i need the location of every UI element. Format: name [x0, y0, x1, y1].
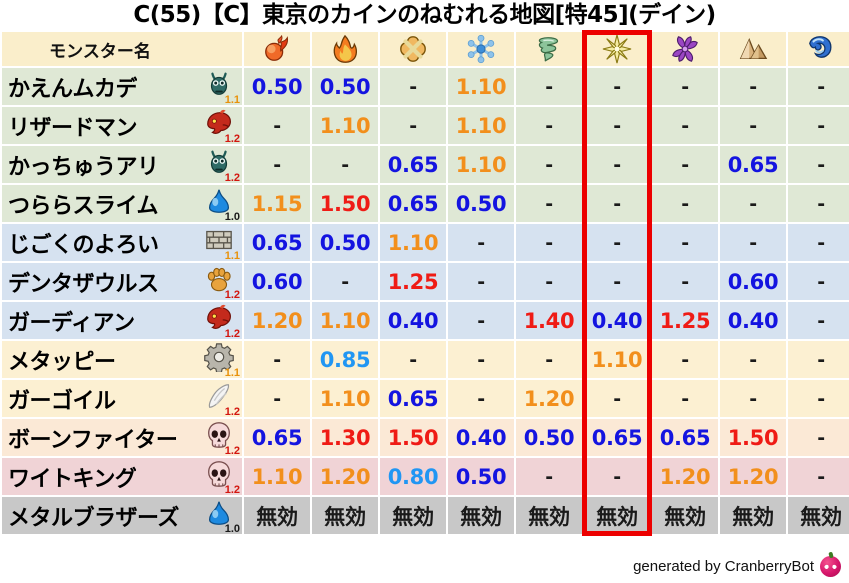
- darkflower-icon: [670, 34, 700, 64]
- resistance-cell: 0.50: [448, 185, 514, 222]
- monster-multiplier: 1.2: [225, 406, 240, 418]
- resistance-cell: 0.65: [244, 224, 310, 261]
- monster-multiplier: 1.2: [225, 484, 240, 496]
- monster-multiplier: 1.2: [225, 133, 240, 145]
- resistance-cell: 1.50: [380, 419, 446, 456]
- header-element-meragiga: [244, 32, 310, 66]
- resistance-cell: -: [652, 107, 718, 144]
- resistance-cell: -: [788, 341, 849, 378]
- resistance-cell: 無効: [380, 497, 446, 534]
- header-element-dorma: [652, 32, 718, 66]
- slime-icon: 1.0: [204, 499, 238, 533]
- resistance-cell: 1.30: [312, 419, 378, 456]
- resistance-cell: 無効: [244, 497, 310, 534]
- resistance-cell: -: [516, 68, 582, 105]
- resistance-cell: -: [720, 224, 786, 261]
- resistance-cell: -: [584, 146, 650, 183]
- monster-name: ワイトキング: [8, 461, 136, 493]
- resistance-cell: 1.20: [516, 380, 582, 417]
- resistance-cell: 1.10: [448, 68, 514, 105]
- flame-icon: [330, 34, 360, 64]
- resistance-cell: 0.65: [652, 419, 718, 456]
- resistance-cell: 0.50: [516, 419, 582, 456]
- table-row: デンタザウルス1.20.60-1.25----0.60-: [2, 263, 849, 300]
- resistance-cell: -: [652, 185, 718, 222]
- monster-multiplier: 1.2: [225, 445, 240, 457]
- resistance-cell: -: [312, 263, 378, 300]
- resistance-cell: -: [448, 224, 514, 261]
- skull-icon: 1.2: [204, 421, 238, 455]
- monster-multiplier: 1.1: [225, 94, 240, 106]
- resistance-cell: -: [788, 419, 849, 456]
- resistance-cell: 0.50: [244, 68, 310, 105]
- resistance-cell: -: [720, 380, 786, 417]
- monster-name: デンタザウルス: [8, 266, 159, 298]
- monster-name: かっちゅうアリ: [8, 149, 159, 181]
- resistance-cell: 1.25: [380, 263, 446, 300]
- resistance-cell: 0.40: [448, 419, 514, 456]
- resistance-cell: -: [380, 341, 446, 378]
- resistance-cell: -: [312, 146, 378, 183]
- resistance-cell: -: [448, 341, 514, 378]
- monster-name-cell[interactable]: ガーディアン1.2: [2, 302, 242, 339]
- resistance-cell: 1.20: [312, 458, 378, 495]
- resistance-cell: -: [788, 458, 849, 495]
- fireball-icon: [262, 34, 292, 64]
- skull-icon: 1.2: [204, 460, 238, 494]
- resistance-cell: 0.65: [380, 146, 446, 183]
- monster-name-cell[interactable]: メタルブラザーズ1.0: [2, 497, 242, 534]
- monster-name-cell[interactable]: リザードマン1.2: [2, 107, 242, 144]
- header-row: モンスター名: [2, 32, 849, 66]
- monster-name: ボーンファイター: [8, 422, 177, 454]
- resistance-cell: 1.10: [312, 302, 378, 339]
- table-row: つららスライム1.01.151.500.650.50-----: [2, 185, 849, 222]
- pawprint-icon: 1.2: [204, 265, 238, 299]
- monster-multiplier: 1.0: [225, 211, 240, 223]
- resistance-table: モンスター名 かえんムカデ1.10.500.50-1.10-----リザードマン…: [0, 30, 849, 536]
- table-row: ボーンファイター1.20.651.301.500.400.500.650.651…: [2, 419, 849, 456]
- resistance-cell: -: [788, 224, 849, 261]
- table-row: メタルブラザーズ1.0無効無効無効無効無効無効無効無効無効: [2, 497, 849, 534]
- resistance-cell: -: [652, 263, 718, 300]
- resistance-cell: 無効: [788, 497, 849, 534]
- table-head: モンスター名: [2, 32, 849, 66]
- mountain-icon: [738, 34, 768, 64]
- resistance-cell: -: [652, 146, 718, 183]
- resistance-cell: -: [788, 263, 849, 300]
- resistance-cell: 1.10: [584, 341, 650, 378]
- header-element-gira: [312, 32, 378, 66]
- resistance-cell: -: [720, 107, 786, 144]
- monster-name-cell[interactable]: ワイトキング1.2: [2, 458, 242, 495]
- resistance-cell: -: [720, 341, 786, 378]
- resistance-cell: -: [244, 146, 310, 183]
- wave-icon: [806, 34, 836, 64]
- header-element-hyado: [448, 32, 514, 66]
- dragon-icon: 1.2: [204, 109, 238, 143]
- resistance-cell: 1.10: [244, 458, 310, 495]
- monster-name: じごくのよろい: [8, 227, 159, 259]
- resistance-cell: -: [516, 341, 582, 378]
- footer: generated by CranberryBot: [633, 553, 841, 579]
- monster-name: メタッピー: [8, 344, 116, 376]
- resistance-cell: 1.20: [720, 458, 786, 495]
- resistance-cell: 0.65: [380, 185, 446, 222]
- resistance-cell: 1.50: [720, 419, 786, 456]
- resistance-cell: 1.10: [312, 107, 378, 144]
- monster-multiplier: 1.2: [225, 172, 240, 184]
- resistance-cell: -: [652, 341, 718, 378]
- header-monster-name: モンスター名: [2, 32, 242, 66]
- resistance-cell: 無効: [652, 497, 718, 534]
- table-row: かえんムカデ1.10.500.50-1.10-----: [2, 68, 849, 105]
- monster-name: つららスライム: [8, 188, 158, 220]
- resistance-cell: -: [788, 68, 849, 105]
- table-row: ガーディアン1.21.201.100.40-1.400.401.250.40-: [2, 302, 849, 339]
- resistance-cell: -: [652, 380, 718, 417]
- resistance-cell: -: [652, 68, 718, 105]
- resistance-cell: -: [448, 263, 514, 300]
- resistance-cell: -: [516, 263, 582, 300]
- table-body: かえんムカデ1.10.500.50-1.10-----リザードマン1.2-1.1…: [2, 68, 849, 534]
- resistance-cell: -: [516, 107, 582, 144]
- monster-name-cell[interactable]: かえんムカデ1.1: [2, 68, 242, 105]
- snowflake-icon: [466, 34, 496, 64]
- resistance-cell: 0.50: [448, 458, 514, 495]
- header-element-io: [380, 32, 446, 66]
- gear-icon: 1.1: [204, 343, 238, 377]
- lightburst-icon: [602, 34, 632, 64]
- wing-icon: 1.2: [204, 382, 238, 416]
- resistance-cell: 0.80: [380, 458, 446, 495]
- header-element-mera_wave: [788, 32, 849, 66]
- resistance-cell: -: [584, 224, 650, 261]
- resistance-cell: -: [516, 185, 582, 222]
- table-row: メタッピー1.1-0.85---1.10---: [2, 341, 849, 378]
- monster-multiplier: 1.0: [225, 523, 240, 535]
- resistance-cell: 1.50: [312, 185, 378, 222]
- resistance-cell: 0.40: [380, 302, 446, 339]
- table-row: リザードマン1.2-1.10-1.10-----: [2, 107, 849, 144]
- cranberry-icon: [820, 556, 841, 577]
- resistance-cell: -: [584, 380, 650, 417]
- monster-multiplier: 1.1: [225, 367, 240, 379]
- monster-multiplier: 1.1: [225, 250, 240, 262]
- monster-name: ガーゴイル: [8, 383, 116, 415]
- resistance-cell: 1.25: [652, 302, 718, 339]
- brickwall-icon: 1.1: [204, 226, 238, 260]
- resistance-cell: 無効: [720, 497, 786, 534]
- monster-name-cell[interactable]: かっちゅうアリ1.2: [2, 146, 242, 183]
- resistance-cell: -: [244, 341, 310, 378]
- damage-chart-page: C(55)【C】東京のカインのねむれる地図[特45](デイン) モンスター名 か…: [0, 0, 849, 583]
- resistance-cell: 0.50: [312, 224, 378, 261]
- explosion-icon: [398, 34, 428, 64]
- resistance-cell: -: [720, 185, 786, 222]
- page-title: C(55)【C】東京のカインのねむれる地図[特45](デイン): [0, 0, 849, 30]
- resistance-cell: 0.40: [584, 302, 650, 339]
- bug-icon: 1.1: [204, 70, 238, 104]
- resistance-cell: 0.50: [312, 68, 378, 105]
- monster-name-cell[interactable]: メタッピー1.1: [2, 341, 242, 378]
- tornado-icon: [534, 34, 564, 64]
- resistance-cell: 0.60: [720, 263, 786, 300]
- resistance-cell: -: [516, 458, 582, 495]
- resistance-cell: 1.10: [448, 146, 514, 183]
- resistance-cell: -: [584, 68, 650, 105]
- resistance-cell: -: [788, 146, 849, 183]
- resistance-cell: -: [584, 458, 650, 495]
- table-row: かっちゅうアリ1.2--0.651.10---0.65-: [2, 146, 849, 183]
- monster-name: ガーディアン: [8, 305, 135, 337]
- resistance-cell: 1.15: [244, 185, 310, 222]
- monster-name-cell[interactable]: つららスライム1.0: [2, 185, 242, 222]
- resistance-cell: -: [380, 68, 446, 105]
- resistance-cell: 無効: [584, 497, 650, 534]
- resistance-cell: -: [244, 107, 310, 144]
- monster-multiplier: 1.2: [225, 328, 240, 340]
- header-element-dein: [584, 32, 650, 66]
- monster-name-cell[interactable]: デンタザウルス1.2: [2, 263, 242, 300]
- slime-icon: 1.0: [204, 187, 238, 221]
- resistance-cell: -: [788, 380, 849, 417]
- resistance-cell: 1.10: [312, 380, 378, 417]
- resistance-cell: -: [380, 107, 446, 144]
- monster-multiplier: 1.2: [225, 289, 240, 301]
- resistance-cell: 1.20: [244, 302, 310, 339]
- resistance-cell: -: [788, 302, 849, 339]
- resistance-cell: -: [584, 107, 650, 144]
- dragon-icon: 1.2: [204, 304, 238, 338]
- resistance-cell: -: [448, 302, 514, 339]
- resistance-cell: 1.40: [516, 302, 582, 339]
- resistance-cell: 0.40: [720, 302, 786, 339]
- footer-text: generated by CranberryBot: [633, 558, 814, 575]
- resistance-cell: 0.60: [244, 263, 310, 300]
- resistance-cell: 無効: [516, 497, 582, 534]
- resistance-cell: -: [788, 107, 849, 144]
- resistance-cell: -: [448, 380, 514, 417]
- resistance-cell: 無効: [312, 497, 378, 534]
- resistance-cell: -: [584, 185, 650, 222]
- resistance-cell: -: [584, 263, 650, 300]
- resistance-cell: -: [788, 185, 849, 222]
- monster-name: リザードマン: [8, 110, 137, 142]
- resistance-cell: -: [244, 380, 310, 417]
- table-row: じごくのよろい1.10.650.501.10------: [2, 224, 849, 261]
- resistance-cell: -: [652, 224, 718, 261]
- resistance-cell: -: [516, 146, 582, 183]
- resistance-cell: 0.85: [312, 341, 378, 378]
- resistance-cell: 0.65: [584, 419, 650, 456]
- bug-icon: 1.2: [204, 148, 238, 182]
- header-element-jibaria: [720, 32, 786, 66]
- table-row: ガーゴイル1.2-1.100.65-1.20----: [2, 380, 849, 417]
- resistance-cell: 1.10: [380, 224, 446, 261]
- resistance-cell: -: [720, 68, 786, 105]
- resistance-cell: 0.65: [244, 419, 310, 456]
- monster-name-cell[interactable]: ボーンファイター1.2: [2, 419, 242, 456]
- header-element-bagi: [516, 32, 582, 66]
- resistance-cell: 0.65: [720, 146, 786, 183]
- resistance-cell: 1.10: [448, 107, 514, 144]
- monster-name-cell[interactable]: じごくのよろい1.1: [2, 224, 242, 261]
- resistance-cell: -: [516, 224, 582, 261]
- resistance-cell: 0.65: [380, 380, 446, 417]
- table-row: ワイトキング1.21.101.200.800.50--1.201.20-: [2, 458, 849, 495]
- monster-name: かえんムカデ: [8, 71, 137, 103]
- resistance-cell: 無効: [448, 497, 514, 534]
- resistance-cell: 1.20: [652, 458, 718, 495]
- monster-name-cell[interactable]: ガーゴイル1.2: [2, 380, 242, 417]
- monster-name: メタルブラザーズ: [8, 500, 179, 532]
